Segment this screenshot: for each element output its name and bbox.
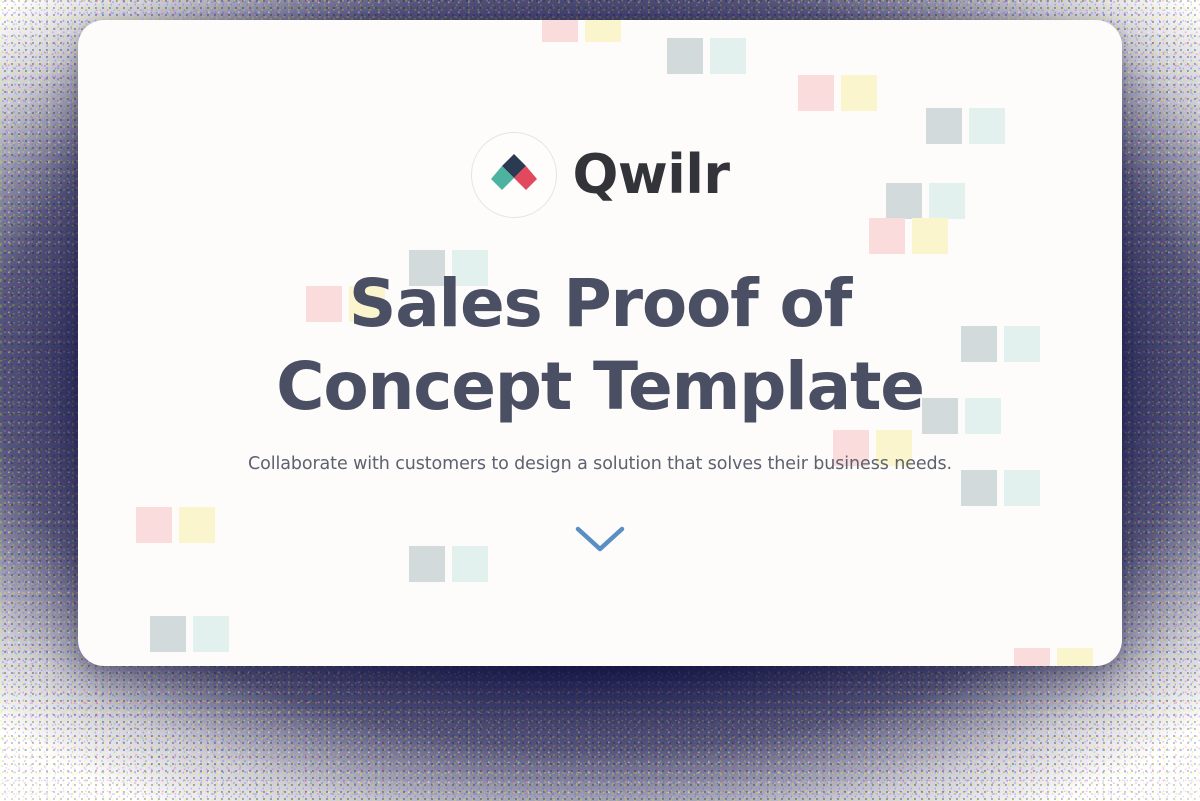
page-subtitle: Collaborate with customers to design a s… — [248, 454, 952, 474]
qwilr-logo-mark — [471, 132, 557, 218]
qwilr-logo-lockup: Qwilr — [471, 132, 730, 218]
page-title: Sales Proof of Concept Template — [240, 262, 960, 428]
qwilr-mark-svg — [490, 152, 538, 198]
chevron-down-icon[interactable] — [569, 522, 631, 556]
chevron-down-svg — [574, 524, 626, 554]
document-preview-card[interactable]: Qwilr Sales Proof of Concept Template Co… — [78, 20, 1122, 666]
qwilr-wordmark: Qwilr — [573, 148, 730, 202]
card-content: Qwilr Sales Proof of Concept Template Co… — [78, 20, 1122, 666]
